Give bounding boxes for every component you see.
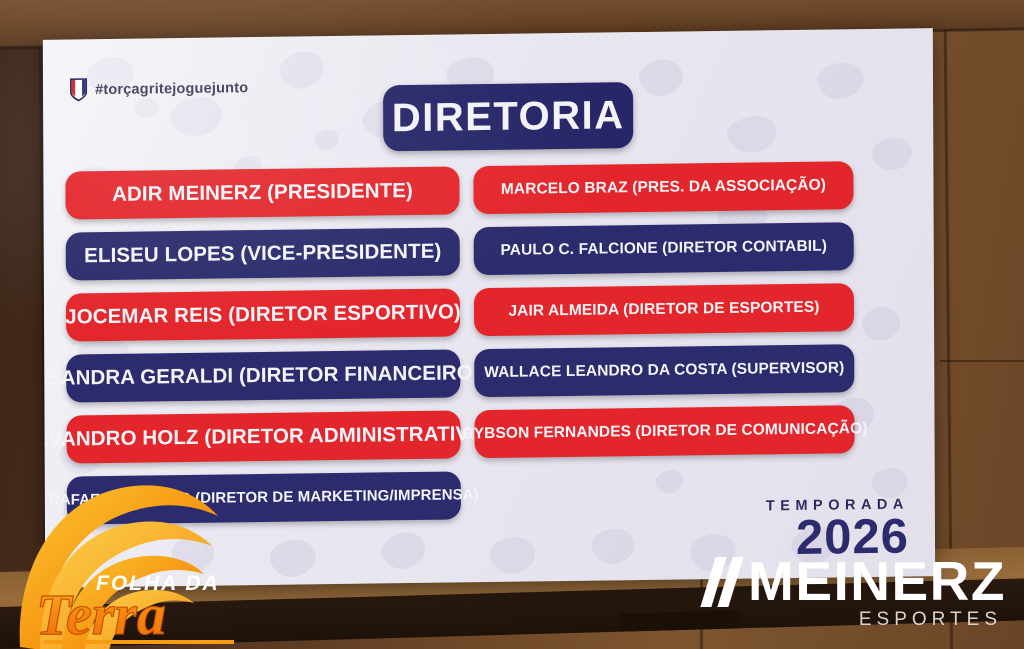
- director-name: ELISEU LOPES (VICE-PRESIDENTE): [84, 241, 441, 267]
- list-item: MARCELO BRAZ (PRES. DA ASSOCIAÇÃO): [473, 161, 853, 214]
- list-item: JOCEMAR REIS (DIRETOR ESPORTIVO): [66, 288, 460, 341]
- folha-line2: Terra: [36, 582, 166, 647]
- list-item: ELISEU LOPES (VICE-PRESIDENTE): [66, 227, 460, 280]
- page-title: DIRETORIA: [383, 82, 633, 151]
- director-name: JAIR ALMEIDA (DIRETOR DE ESPORTES): [508, 300, 819, 320]
- list-item: GYBSON FERNANDES (DIRETOR DE COMUNICAÇÃO…: [474, 405, 854, 458]
- page-title-text: DIRETORIA: [392, 93, 625, 141]
- director-name: SANDRA GERALDI (DIRETOR FINANCEIRO): [47, 362, 480, 389]
- director-name: GYBSON FERNANDES (DIRETOR DE COMUNICAÇÃO…: [462, 421, 868, 443]
- screenshot-root: #torçagritejoguejunto DIRETORIA ADIR MEI…: [0, 0, 1024, 649]
- shield-icon: [69, 77, 88, 102]
- hashtag-text: #torçagritejoguejunto: [95, 80, 248, 98]
- director-name: WALLACE LEANDRO DA COSTA (SUPERVISOR): [484, 360, 844, 381]
- meinerz-brand-name: MEINERZ: [748, 556, 1006, 607]
- left-column: ADIR MEINERZ (PRESIDENTE) ELISEU LOPES (…: [65, 166, 461, 524]
- list-item: PAULO C. FALCIONE (DIRETOR CONTABIL): [474, 222, 854, 275]
- list-item: SANDRA GERALDI (DIRETOR FINANCEIRO): [66, 349, 460, 402]
- director-name: PAULO C. FALCIONE (DIRETOR CONTABIL): [500, 238, 827, 259]
- directors-columns: ADIR MEINERZ (PRESIDENTE) ELISEU LOPES (…: [43, 160, 934, 525]
- hashtag-block: #torçagritejoguejunto: [69, 75, 248, 102]
- list-item: EVANDRO HOLZ (DIRETOR ADMINISTRATIVO): [66, 410, 460, 463]
- director-name: MARCELO BRAZ (PRES. DA ASSOCIAÇÃO): [501, 177, 826, 198]
- director-name: ADIR MEINERZ (PRESIDENTE): [112, 180, 413, 205]
- meinerz-watermark: MEINERZ ESPORTES: [708, 556, 1006, 631]
- wall-seam-right: [940, 360, 1024, 362]
- list-item: JAIR ALMEIDA (DIRETOR DE ESPORTES): [474, 283, 854, 336]
- folha-da-terra-logo: FOLHA DA Terra: [14, 472, 284, 649]
- meinerz-brand-subtitle: ESPORTES: [859, 609, 1002, 631]
- right-column: MARCELO BRAZ (PRES. DA ASSOCIAÇÃO) PAULO…: [473, 161, 855, 519]
- director-name: EVANDRO HOLZ (DIRETOR ADMINISTRATIVO): [43, 423, 492, 451]
- list-item: WALLACE LEANDRO DA COSTA (SUPERVISOR): [474, 344, 854, 397]
- director-name: JOCEMAR REIS (DIRETOR ESPORTIVO): [65, 302, 461, 329]
- list-item: ADIR MEINERZ (PRESIDENTE): [65, 166, 459, 219]
